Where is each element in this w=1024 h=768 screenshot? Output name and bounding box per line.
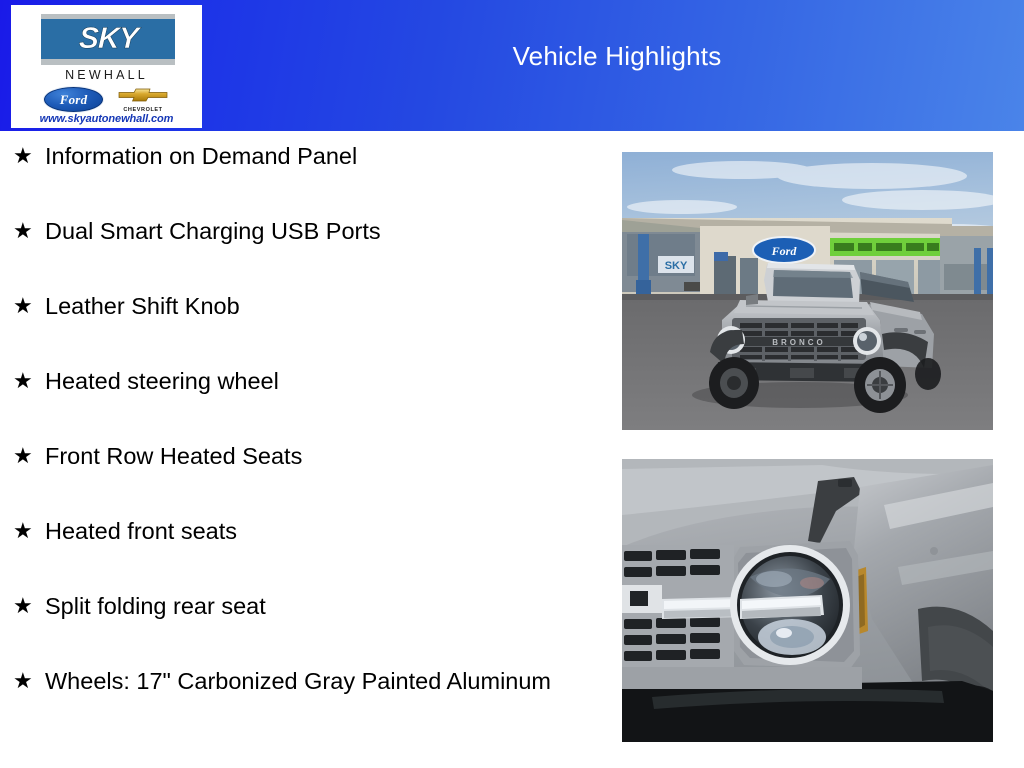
sky-logo-text: SKY bbox=[78, 24, 138, 54]
star-icon: ★ bbox=[13, 591, 45, 621]
ford-oval-icon: Ford bbox=[43, 86, 104, 113]
list-item: ★ Wheels: 17" Carbonized Gray Painted Al… bbox=[0, 666, 600, 741]
page-title: Vehicle Highlights bbox=[210, 0, 1024, 131]
vehicle-headlight-image bbox=[622, 459, 993, 742]
list-item-label: Heated steering wheel bbox=[45, 366, 600, 397]
dealer-logo[interactable]: SKY NEWHALL Ford CHEVROLE bbox=[11, 5, 202, 128]
vehicle-exterior-image: SKY Ford bbox=[622, 152, 993, 430]
star-icon: ★ bbox=[13, 366, 45, 396]
star-icon: ★ bbox=[13, 216, 45, 246]
star-icon: ★ bbox=[13, 291, 45, 321]
svg-text:BRONCO: BRONCO bbox=[772, 338, 826, 347]
vehicle-highlights-list: ★ Information on Demand Panel ★ Dual Sma… bbox=[0, 141, 600, 741]
list-item-label: Split folding rear seat bbox=[45, 591, 600, 622]
vehicle-headlight-photo[interactable] bbox=[622, 459, 993, 742]
svg-text:SKY: SKY bbox=[665, 260, 688, 272]
list-item: ★ Split folding rear seat bbox=[0, 591, 600, 666]
star-icon: ★ bbox=[13, 141, 45, 171]
star-icon: ★ bbox=[13, 516, 45, 546]
dealer-website-url[interactable]: www.skyautonewhall.com bbox=[11, 113, 202, 125]
ford-wordmark: Ford bbox=[60, 92, 88, 108]
dealer-location-label: NEWHALL bbox=[11, 68, 202, 82]
list-item-label: Wheels: 17" Carbonized Gray Painted Alum… bbox=[45, 666, 600, 697]
star-icon: ★ bbox=[13, 441, 45, 471]
list-item-label: Front Row Heated Seats bbox=[45, 441, 600, 472]
star-icon: ★ bbox=[13, 666, 45, 696]
franchise-badges: Ford CHEVROLET bbox=[11, 86, 202, 113]
list-item: ★ Dual Smart Charging USB Ports bbox=[0, 216, 600, 291]
list-item-label: Information on Demand Panel bbox=[45, 141, 600, 172]
list-item: ★ Leather Shift Knob bbox=[0, 291, 600, 366]
svg-text:Ford: Ford bbox=[771, 244, 798, 258]
list-item-label: Heated front seats bbox=[45, 516, 600, 547]
list-item: ★ Information on Demand Panel bbox=[0, 141, 600, 216]
list-item: ★ Front Row Heated Seats bbox=[0, 441, 600, 516]
sky-logo-plate: SKY bbox=[41, 14, 175, 65]
list-item-label: Dual Smart Charging USB Ports bbox=[45, 216, 600, 247]
list-item-label: Leather Shift Knob bbox=[45, 291, 600, 322]
dealer-logo-inner: SKY NEWHALL Ford CHEVROLE bbox=[11, 5, 202, 128]
chevrolet-bowtie-icon bbox=[118, 87, 168, 102]
list-item: ★ Heated front seats bbox=[0, 516, 600, 591]
chevrolet-badge: CHEVROLET bbox=[116, 86, 170, 113]
list-item: ★ Heated steering wheel bbox=[0, 366, 600, 441]
vehicle-exterior-photo[interactable]: SKY Ford bbox=[622, 152, 993, 430]
